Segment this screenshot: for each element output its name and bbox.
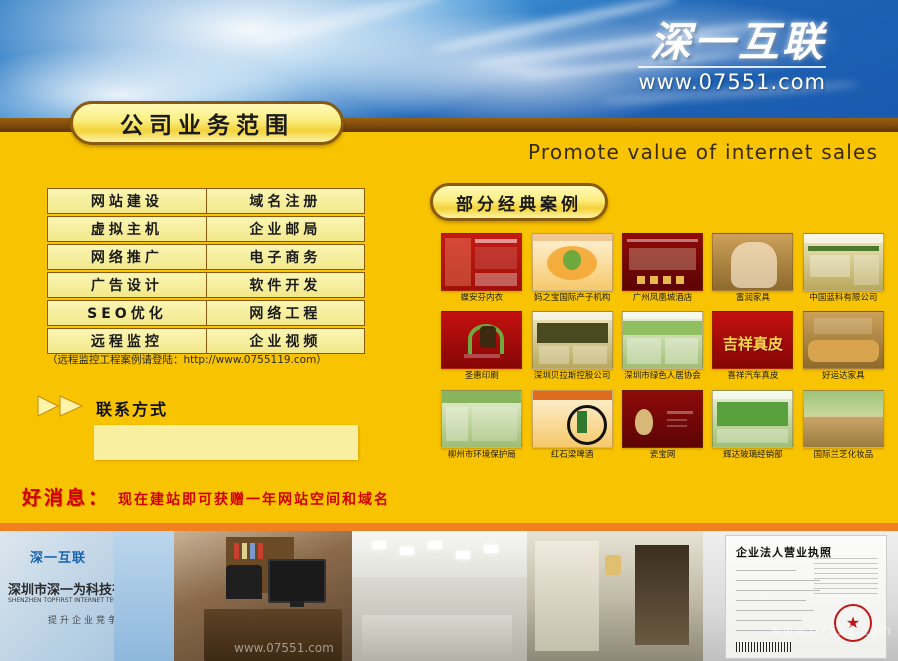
case-caption: 喜祥汽车真皮 [708,372,797,381]
case-item[interactable]: 辉达玻璃经销部 [708,390,797,460]
services-table: 网站建设 域名注册 虚拟主机 企业邮局 网络推广 电子商务 广告设计 软件开发 … [47,186,365,356]
case-thumbnail[interactable] [803,233,884,291]
case-thumbnail[interactable] [712,390,793,448]
cloud-wisp [251,0,449,50]
case-caption: 国际兰芝化妆品 [799,451,888,460]
case-item[interactable]: 深圳贝拉斯控股公司 [527,311,616,381]
contact-label: 联系方式 [96,396,168,420]
case-thumbnail[interactable] [622,233,703,291]
office-photo-reception: 深一互联 深圳市深一为科技有限公司 SHENZHEN TOPFIRST INTE… [0,531,174,661]
service-cell: 远程监控 [47,328,207,354]
case-item[interactable]: 圣惠印刷 [437,311,526,381]
service-cell: 网络工程 [207,300,365,326]
wall-logo-text: 深一互联 [30,547,86,566]
table-row: SEO优化 网络工程 [47,300,365,326]
cases-row: 柳州市环境保护局 红石梁啤酒 瓷宝网 [437,390,889,460]
case-thumbnail[interactable] [803,311,884,369]
case-caption: 好运达家具 [799,372,888,381]
case-thumbnail[interactable] [712,233,793,291]
case-caption: 红石梁啤酒 [527,451,616,460]
case-thumbnail[interactable]: 吉祥真皮 [712,311,793,369]
section-title-banner: 公司业务范围 [70,101,344,145]
table-row: 广告设计 软件开发 [47,272,365,298]
office-photo-desk: www.07551.com [174,531,352,661]
table-row: 网络推广 电子商务 [47,244,365,270]
service-cell: 虚拟主机 [47,216,207,242]
brand-name: 深一互联 [638,22,826,63]
service-cell: 网络推广 [47,244,207,270]
office-chair [226,565,262,599]
cases-row: 蝶安芬内衣 妈之宝国际产子机构 广州凤凰城 [437,233,889,303]
photo-watermark: www.07551.com [771,624,892,639]
service-cell: 网站建设 [47,188,207,214]
license-barcode [736,642,792,652]
service-cell: 广告设计 [47,272,207,298]
case-thumbnail[interactable] [441,233,522,291]
case-item[interactable]: 瓷宝网 [618,390,707,460]
case-caption: 蝶安芬内衣 [437,294,526,303]
case-caption: 柳州市环境保护局 [437,451,526,460]
case-thumbnail-overlay-text: 吉祥真皮 [713,333,792,354]
case-thumbnail[interactable] [622,390,703,448]
case-item[interactable]: 富润家具 [708,233,797,303]
case-item[interactable]: 国际兰芝化妆品 [799,390,888,460]
case-thumbnail[interactable] [622,311,703,369]
case-caption: 中国蓝科有限公司 [799,294,888,303]
case-caption: 广州凤凰城酒店 [618,294,707,303]
brand-website: www.07551.com [638,70,826,94]
cases-title-banner: 部分经典案例 [430,183,608,221]
case-thumbnail[interactable] [803,390,884,448]
promo-banner: 好消息： 现在建站即可获赠一年网站空间和域名 [22,483,390,510]
case-thumbnail[interactable] [532,233,613,291]
case-item[interactable]: 红石梁啤酒 [527,390,616,460]
computer-monitor [268,559,326,603]
table-row: 远程监控 企业视频 [47,328,365,354]
case-caption: 深圳贝拉斯控股公司 [527,372,616,381]
case-caption: 圣惠印刷 [437,372,526,381]
table-row: 虚拟主机 企业邮局 [47,216,365,242]
case-item[interactable]: 中国蓝科有限公司 [799,233,888,303]
case-item[interactable]: 吉祥真皮 喜祥汽车真皮 [708,311,797,381]
service-cell: 企业邮局 [207,216,365,242]
contact-input[interactable] [94,425,358,460]
orange-divider [0,523,898,531]
cases-grid: 蝶安芬内衣 妈之宝国际产子机构 广州凤凰城 [437,233,889,468]
case-thumbnail[interactable] [532,390,613,448]
case-thumbnail[interactable] [532,311,613,369]
service-cell: 软件开发 [207,272,365,298]
case-caption: 辉达玻璃经销部 [708,451,797,460]
case-item[interactable]: 柳州市环境保护局 [437,390,526,460]
case-caption: 瓷宝网 [618,451,707,460]
service-cell: 电子商务 [207,244,365,270]
case-item[interactable]: 好运达家具 [799,311,888,381]
case-item[interactable]: 广州凤凰城酒店 [618,233,707,303]
office-photo-showroom [527,531,703,661]
case-thumbnail[interactable] [441,390,522,448]
promo-headline: 好消息： [22,483,110,510]
double-chevron-icon [36,395,92,417]
service-cell: SEO优化 [47,300,207,326]
case-caption: 深圳市绿色人居协会 [618,372,707,381]
promo-text: 现在建站即可获赠一年网站空间和域名 [118,489,390,509]
business-license-photo: 企业法人营业执照 ★ www.07551.com [703,531,898,661]
services-note: （远程监控工程案例请登陆：http://www.0755119.com） [47,352,377,367]
brand-logo: 深一互联 www.07551.com [638,22,826,94]
case-item[interactable]: 妈之宝国际产子机构 [527,233,616,303]
case-thumbnail[interactable] [441,311,522,369]
case-caption: 富润家具 [708,294,797,303]
office-photo-corridor [352,531,527,661]
services-table-body: 网站建设 域名注册 虚拟主机 企业邮局 网络推广 电子商务 广告设计 软件开发 … [47,188,365,354]
ceiling [352,531,527,577]
license-notes-column [814,558,878,598]
section-title-text: 公司业务范围 [120,106,294,140]
photo-watermark: www.07551.com [234,641,334,655]
business-license-document: 企业法人营业执照 ★ [725,535,887,659]
photo-gallery-strip: 深一互联 深圳市深一为科技有限公司 SHENZHEN TOPFIRST INTE… [0,531,898,661]
logo-divider [638,66,826,68]
flyer-page: 深一互联 www.07551.com 公司业务范围 Promote value … [0,0,898,661]
cases-title-text: 部分经典案例 [456,190,582,215]
cases-row: 圣惠印刷 深圳贝拉斯控股公司 深圳市绿色人居协会 [437,311,889,381]
case-item[interactable]: 蝶安芬内衣 [437,233,526,303]
english-slogan: Promote value of internet sales [528,140,878,164]
case-item[interactable]: 深圳市绿色人居协会 [618,311,707,381]
table-row: 网站建设 域名注册 [47,188,365,214]
service-cell: 企业视频 [207,328,365,354]
case-caption: 妈之宝国际产子机构 [527,294,616,303]
service-cell: 域名注册 [207,188,365,214]
